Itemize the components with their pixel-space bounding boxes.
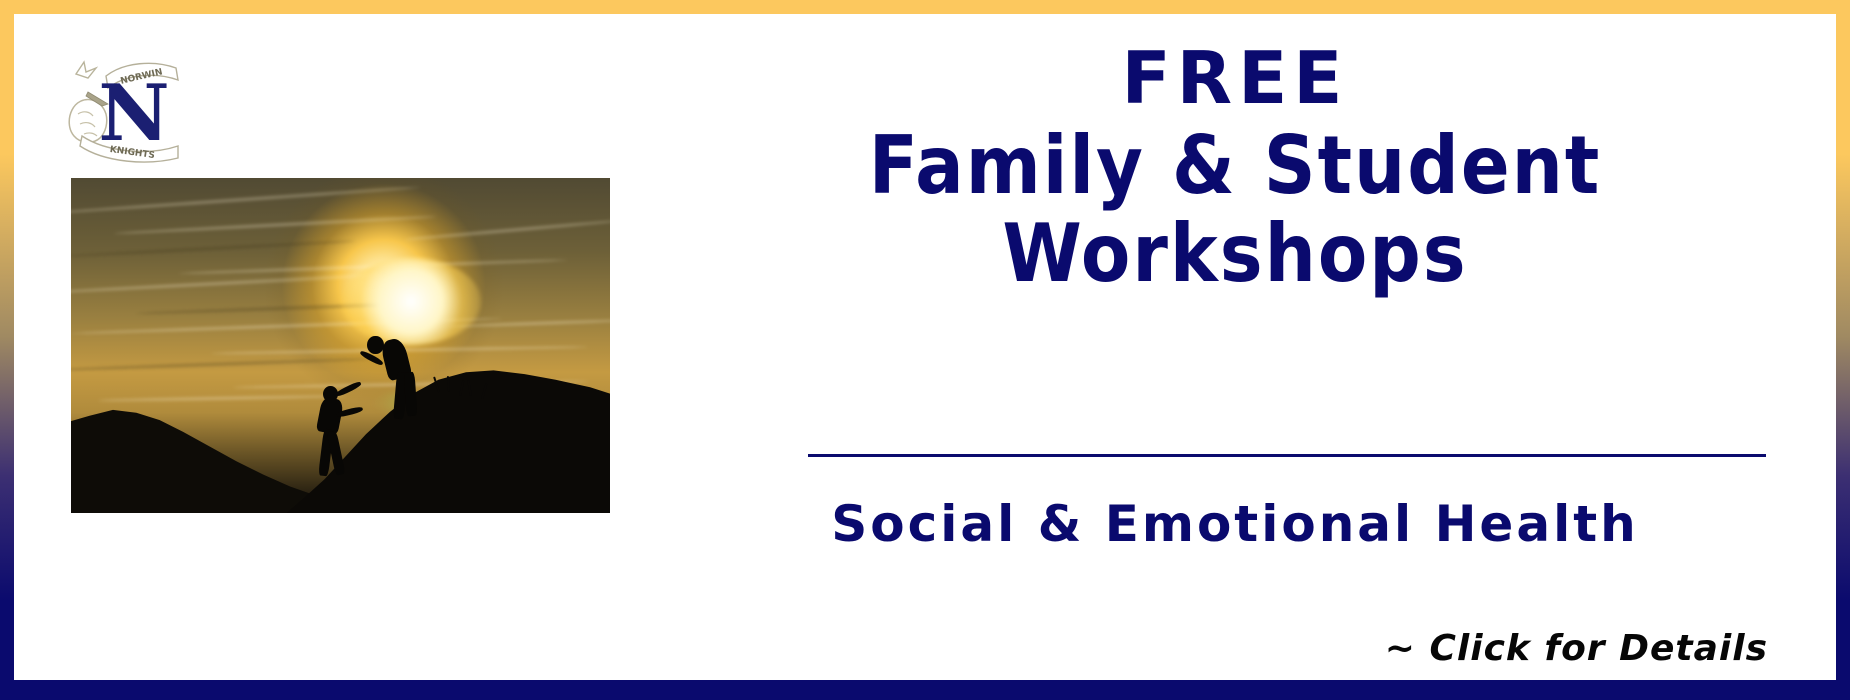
crest-icon: NORWIN KNIGHTS N: [62, 48, 184, 164]
photo-helper-figure-head: [367, 336, 383, 354]
headline-line-workshops: Workshops: [690, 213, 1780, 295]
headline-block: FREE Family & Student Workshops: [690, 42, 1780, 295]
click-for-details-cta[interactable]: ~ Click for Details: [1385, 628, 1768, 669]
subheadline-social-emotional-health: Social & Emotional Health: [690, 495, 1780, 553]
border-left-gradient: [0, 0, 14, 700]
promo-banner[interactable]: NORWIN KNIGHTS N: [0, 0, 1850, 700]
headline-line-family-and-student: Family & Student: [690, 125, 1780, 207]
horizontal-divider-rule: [808, 454, 1766, 457]
border-right-gradient: [1836, 0, 1850, 700]
photo-sun-glow: [341, 258, 481, 345]
norwin-knights-crest-logo[interactable]: NORWIN KNIGHTS N: [62, 48, 184, 164]
headline-line-free: FREE: [690, 42, 1780, 115]
sunset-mountain-photo[interactable]: [71, 178, 610, 513]
crest-monogram-letter: N: [98, 68, 169, 159]
border-top-gold: [0, 0, 1850, 14]
border-bottom-navy: [0, 680, 1850, 700]
